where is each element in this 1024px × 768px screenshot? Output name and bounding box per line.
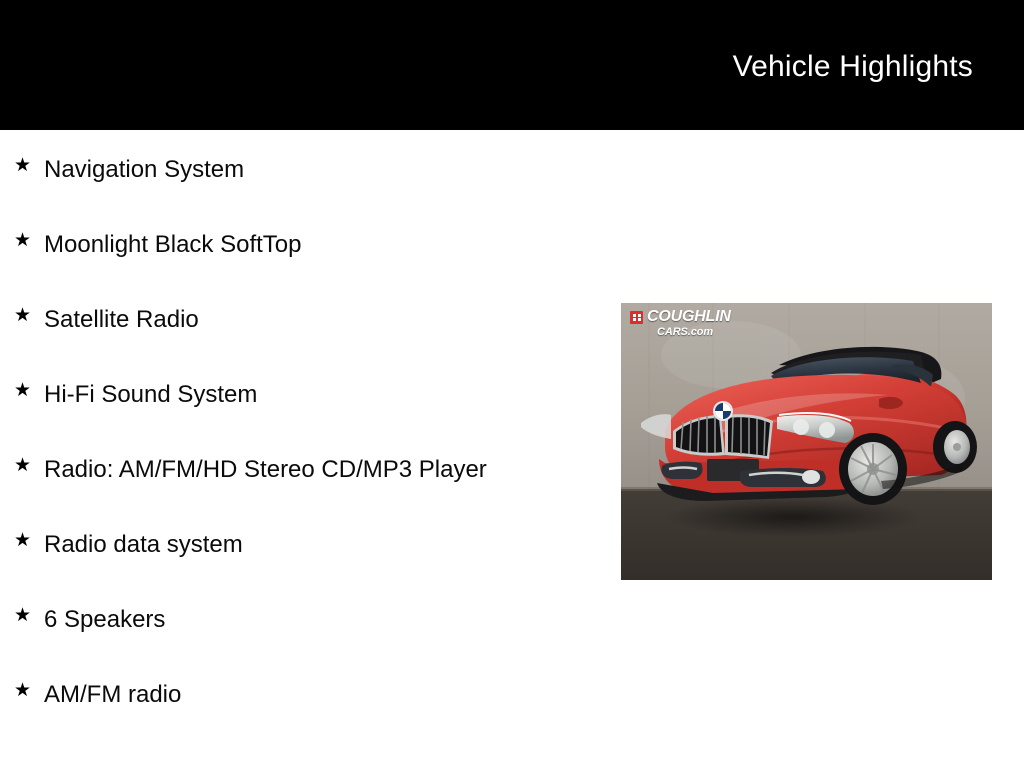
star-bullet-icon: ★ [14, 381, 31, 400]
star-bullet-icon: ★ [14, 456, 31, 475]
list-item: ★ 6 Speakers [0, 580, 600, 655]
vehicle-photo: COUGHLIN CARS.com [621, 303, 992, 580]
list-item: ★ Hi-Fi Sound System [0, 355, 600, 430]
list-item: ★ Radio: AM/FM/HD Stereo CD/MP3 Player [0, 430, 600, 505]
list-item-label: Radio data system [44, 505, 514, 562]
list-item: ★ Moonlight Black SoftTop [0, 205, 600, 280]
list-item-label: Moonlight Black SoftTop [44, 205, 514, 262]
vehicle-highlights-list: ★ Navigation System ★ Moonlight Black So… [0, 130, 600, 730]
star-bullet-icon: ★ [14, 306, 31, 325]
list-item: ★ Radio data system [0, 505, 600, 580]
star-bullet-icon: ★ [14, 156, 31, 175]
vehicle-photo-image [621, 303, 992, 580]
list-item: ★ Satellite Radio [0, 280, 600, 355]
list-item-label: AM/FM radio [44, 655, 514, 712]
star-bullet-icon: ★ [14, 681, 31, 700]
star-bullet-icon: ★ [14, 531, 31, 550]
list-item: ★ Navigation System [0, 130, 600, 205]
header-bar: Vehicle Highlights [0, 0, 1024, 130]
list-item-label: Hi-Fi Sound System [44, 355, 514, 412]
list-item-label: Satellite Radio [44, 280, 514, 337]
list-item: ★ AM/FM radio [0, 655, 600, 730]
list-item-label: Radio: AM/FM/HD Stereo CD/MP3 Player [44, 430, 514, 487]
page-title: Vehicle Highlights [733, 50, 973, 84]
list-item-label: 6 Speakers [44, 580, 514, 637]
list-item-label: Navigation System [44, 130, 514, 187]
star-bullet-icon: ★ [14, 606, 31, 625]
star-bullet-icon: ★ [14, 231, 31, 250]
